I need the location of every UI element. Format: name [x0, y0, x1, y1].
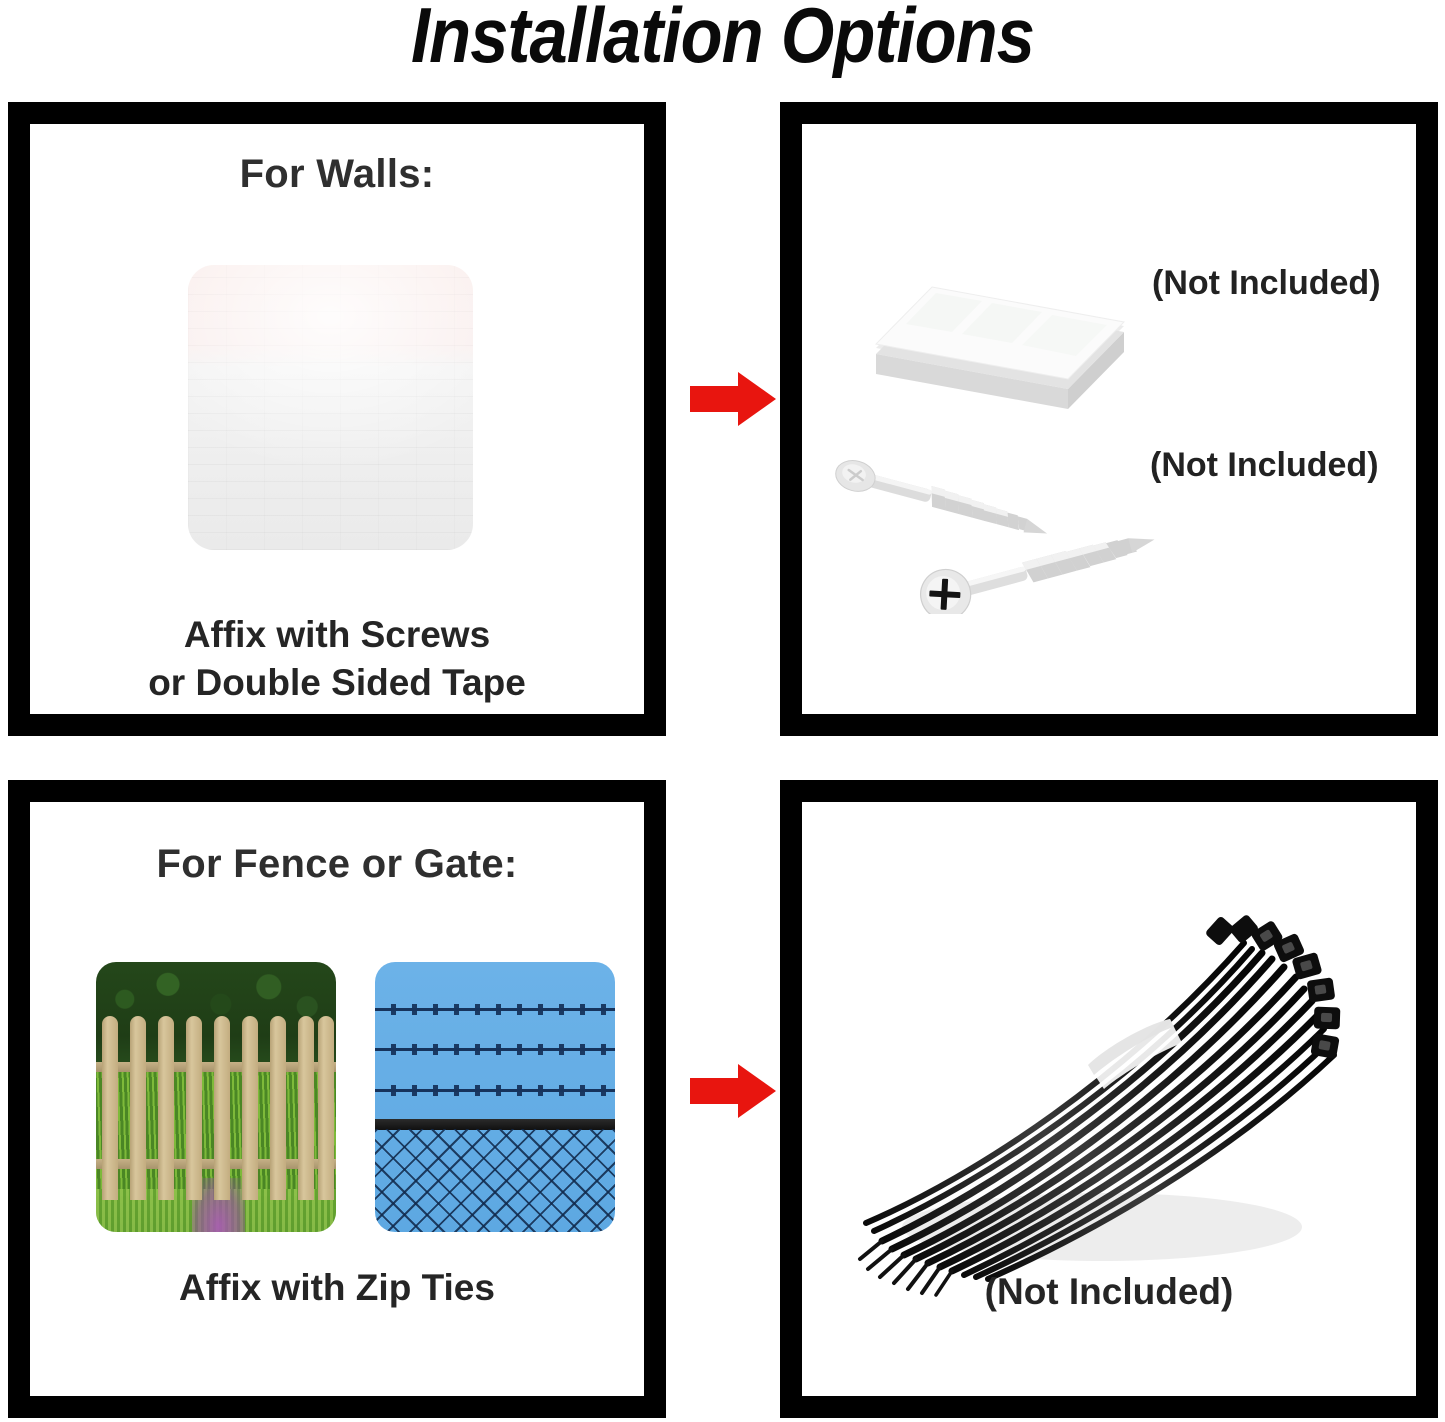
chain-link-barbed-wire-fence-photo	[375, 962, 615, 1232]
fence-picket	[318, 1016, 334, 1200]
panel-for-walls: For Walls: Affix with Screws or Double S…	[8, 102, 666, 736]
arrow-right-icon	[690, 1064, 776, 1118]
walls-caption: Affix with Screws or Double Sided Tape	[30, 611, 644, 707]
for-fence-heading: For Fence or Gate:	[30, 842, 644, 887]
panel-wall-hardware: (Not Included)	[780, 102, 1438, 736]
barbed-wire-strand	[375, 1048, 615, 1051]
fence-picket	[102, 1016, 118, 1200]
zipties-not-included-label: (Not Included)	[802, 1268, 1416, 1316]
walls-caption-line-1: Affix with Screws	[30, 611, 644, 659]
panel-fence-hardware: (Not Included)	[780, 780, 1438, 1418]
fence-picket	[158, 1016, 174, 1200]
barbed-wire-strand	[375, 1089, 615, 1092]
fence-picket	[186, 1016, 202, 1200]
fence-picket	[298, 1016, 314, 1200]
brick-gloss-overlay	[188, 265, 473, 550]
brick-wall-swatch-icon	[188, 265, 473, 550]
fence-top-rail	[375, 1119, 615, 1130]
screw-lower-icon	[902, 524, 1164, 614]
double-sided-tape-stack-icon	[862, 244, 1132, 409]
screws-not-included-label: (Not Included)	[1150, 446, 1379, 485]
fence-picket	[214, 1016, 230, 1200]
fence-picket	[130, 1016, 146, 1200]
panel-for-fence-or-gate: For Fence or Gate:	[8, 780, 666, 1418]
fence-caption-line-1: Affix with Zip Ties	[30, 1264, 644, 1312]
fence-picket	[242, 1016, 258, 1200]
for-walls-heading: For Walls:	[30, 152, 644, 197]
zipties-caption: (Not Included)	[802, 1268, 1416, 1316]
tape-not-included-label: (Not Included)	[1152, 264, 1381, 303]
barbed-wire-strand	[375, 1008, 615, 1011]
wooden-picket-fence-photo	[96, 962, 336, 1232]
page-title: Installation Options	[87, 0, 1359, 74]
fence-caption: Affix with Zip Ties	[30, 1264, 644, 1312]
arrow-right-icon	[690, 372, 776, 426]
chain-link-mesh	[375, 1129, 615, 1232]
walls-caption-line-2: or Double Sided Tape	[30, 659, 644, 707]
fence-picket	[270, 1016, 286, 1200]
zip-tie-bundle-icon	[852, 897, 1352, 1297]
